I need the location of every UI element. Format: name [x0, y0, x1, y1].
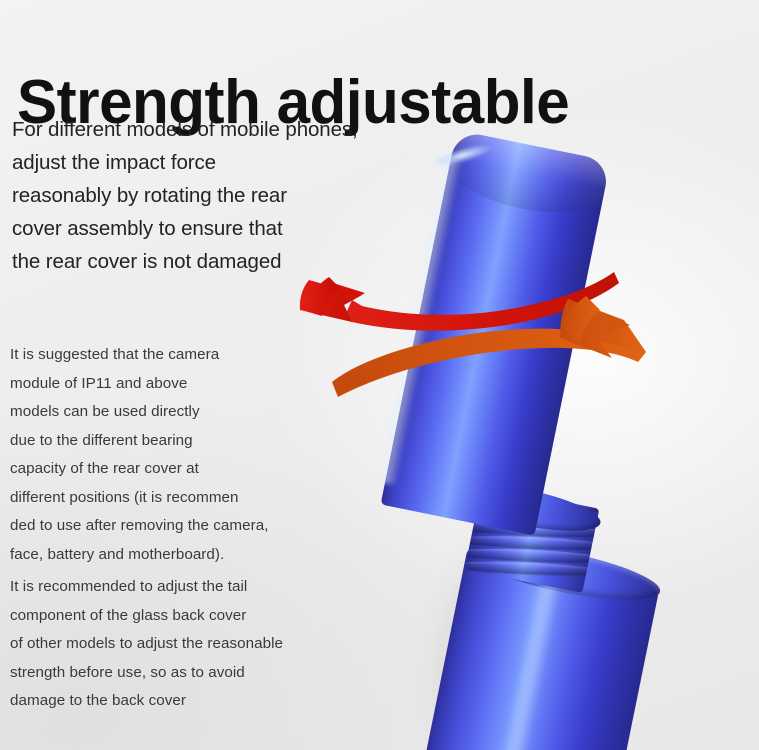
intro-line: For different models of mobile phones,	[12, 113, 372, 146]
lower-body-rim	[464, 533, 664, 611]
note-line: module of IP11 and above	[10, 370, 340, 399]
intro-line: the rear cover is not damaged	[12, 245, 372, 278]
intro-line: reasonably by rotating the rear	[12, 179, 372, 212]
product-feature-graphic: Strength adjustable For different models…	[0, 0, 759, 750]
note-line: damage to the back cover	[10, 687, 340, 716]
note-line: ded to use after removing the camera,	[10, 512, 340, 541]
thread-ring	[465, 547, 600, 565]
note-paragraph-camera-module: It is suggested that the camera module o…	[10, 341, 340, 569]
note-line: face, battery and motherboard).	[10, 541, 340, 570]
note-line: of other models to adjust the reasonable	[10, 630, 340, 659]
note-line: It is suggested that the camera	[10, 341, 340, 370]
rotate-arrow-orange	[332, 296, 646, 397]
rotate-arrow-red	[300, 272, 619, 331]
intro-line: cover assembly to ensure that	[12, 212, 372, 245]
lower-body-sheen	[496, 582, 561, 750]
lower-body-cylinder	[422, 546, 660, 750]
intro-paragraph: For different models of mobile phones, a…	[12, 113, 372, 278]
upper-barrel-rim	[440, 473, 604, 540]
thread-ring	[465, 534, 600, 552]
product-drop-shadow	[400, 511, 567, 750]
thread-ring	[465, 521, 600, 539]
note-line: due to the different bearing	[10, 427, 340, 456]
note-line: It is recommended to adjust the tail	[10, 573, 340, 602]
intro-line: adjust the impact force	[12, 146, 372, 179]
thread-ring	[465, 559, 600, 577]
note-line: models can be used directly	[10, 398, 340, 427]
note-line: component of the glass back cover	[10, 602, 340, 631]
upper-barrel-sheen	[375, 158, 462, 486]
upper-cap-barrel	[381, 130, 611, 536]
threaded-neck	[465, 485, 600, 593]
note-line: capacity of the rear cover at	[10, 455, 340, 484]
note-paragraph-glass-back-cover: It is recommended to adjust the tail com…	[10, 573, 340, 716]
specular-highlight	[431, 141, 492, 170]
note-line: strength before use, so as to avoid	[10, 659, 340, 688]
note-line: different positions (it is recommen	[10, 484, 340, 513]
thread-ring	[465, 496, 599, 514]
thread-ring	[465, 508, 600, 526]
